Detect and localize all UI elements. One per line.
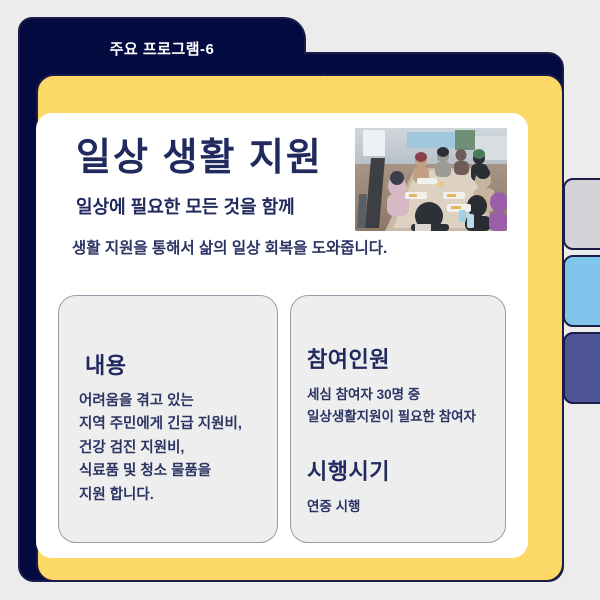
content-card: 일상 생활 지원 일상에 필요한 모든 것을 함께 생활 지원을 통해서 삶의 … <box>36 113 528 558</box>
info-line: 건강 검진 지원비, <box>79 437 263 460</box>
folder-tab-label: 주요 프로그램-6 <box>110 38 215 59</box>
info-box-participants: 참여인원 세심 참여자 30명 중 일상생활지원이 필요한 참여자 시행시기 연… <box>290 295 506 543</box>
slide-canvas: 주요 프로그램-6 일상 생활 지원 일상에 필요한 모든 것을 함께 생활 지… <box>0 0 600 600</box>
info-line: 일상생활지원이 필요한 참여자 <box>307 406 491 428</box>
info-line: 식료품 및 청소 물품을 <box>79 460 263 483</box>
page-title: 일상 생활 지원 <box>76 139 323 179</box>
info-box-row: 내용 어려움을 겪고 있는 지역 주민에게 긴급 지원비, 건강 검진 지원비,… <box>58 295 506 543</box>
photo-illustration <box>355 128 507 231</box>
card-header: 일상 생활 지원 일상에 필요한 모든 것을 함께 생활 지원을 통해서 삶의 … <box>58 131 506 269</box>
info-box-content: 내용 어려움을 겪고 있는 지역 주민에게 긴급 지원비, 건강 검진 지원비,… <box>58 295 278 543</box>
info-box-heading-schedule: 시행시기 <box>307 454 491 486</box>
info-box-heading: 내용 <box>85 348 263 380</box>
page-description: 생활 지원을 통해서 삶의 일상 회복을 도와줍니다. <box>72 236 387 258</box>
page-subtitle: 일상에 필요한 모든 것을 함께 <box>76 193 295 219</box>
side-tab-blue[interactable] <box>563 255 600 327</box>
side-tab-navy[interactable] <box>563 332 600 404</box>
info-line: 지원 합니다. <box>79 484 263 507</box>
info-line: 세심 참여자 30명 중 <box>307 384 491 406</box>
program-photo <box>355 128 507 231</box>
folder-tab: 주요 프로그램-6 <box>18 17 306 77</box>
info-line: 어려움을 겪고 있는 <box>79 390 263 413</box>
side-tab-gray[interactable] <box>563 178 600 250</box>
info-line: 연중 시행 <box>307 496 491 518</box>
info-line: 지역 주민에게 긴급 지원비, <box>79 413 263 436</box>
info-box-heading: 참여인원 <box>307 342 491 374</box>
